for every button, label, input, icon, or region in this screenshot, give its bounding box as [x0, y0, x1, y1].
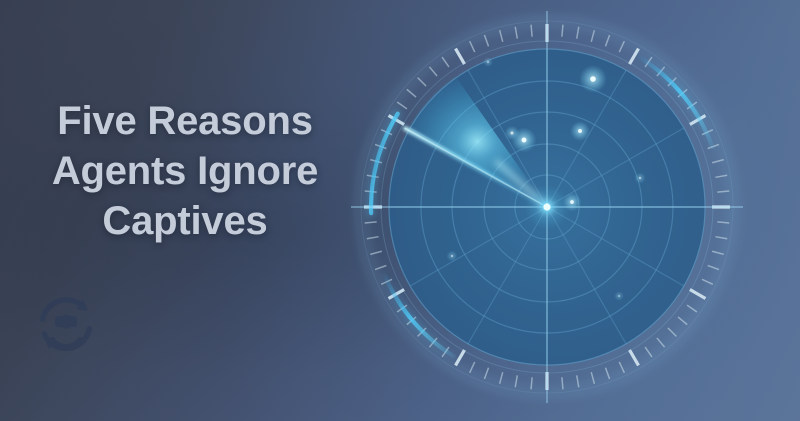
blip-3: [522, 138, 527, 143]
radar-center-dot: [525, 185, 569, 229]
blip-4: [511, 132, 514, 135]
blip-7: [487, 61, 489, 63]
blip-1: [590, 76, 596, 82]
title-line-1: Five Reasons: [0, 96, 370, 146]
circular-arrows-emblem-icon: [27, 285, 105, 363]
blip-8: [451, 255, 453, 257]
blip-2: [578, 129, 582, 133]
blip-9: [618, 295, 620, 297]
title-line-3: Captives: [0, 196, 370, 246]
title-line-2: Agents Ignore: [0, 146, 370, 196]
banner-root: Five Reasons Agents Ignore Captives: [0, 0, 800, 421]
brand-logo[interactable]: [27, 285, 105, 363]
page-title: Five Reasons Agents Ignore Captives: [0, 96, 370, 246]
blip-6: [639, 177, 641, 179]
blip-5: [570, 200, 574, 204]
